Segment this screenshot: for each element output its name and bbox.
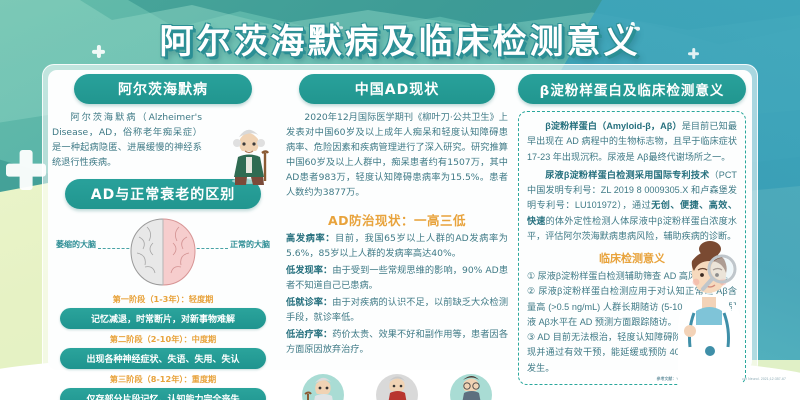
column-one: 阿尔茨海默病 阿尔茨海默病（Alzheimer's Disease，AD，俗称老… (52, 74, 274, 400)
amyloid-beta-paragraph-two: 尿液β淀粉样蛋白检测采用国际专利技术（PCT中国发明专利号：ZL 2019 8 … (527, 168, 737, 244)
stat-item: 低就诊率：由于对疾病的认识不足，以前缺乏大众检测手段，就诊率低。 (286, 296, 508, 326)
stat-term: 低就诊率： (286, 297, 332, 308)
stat-term: 低发现率： (286, 265, 332, 276)
stat-item: 低治疗率：药价太贵、效果不好和副作用等，患者因各方面原因放弃治疗。 (286, 328, 508, 358)
brain-label-atrophied: 萎缩的大脑 (56, 239, 96, 250)
china-ad-status-text: 2020年12月国际医学期刊《柳叶刀·公共卫生》上发表对中国60岁及以上成年人痴… (286, 111, 508, 200)
column-three: β淀粉样蛋白及临床检测意义 β淀粉样蛋白（Amyloid-β，Aβ）是目前已知最… (518, 74, 746, 385)
elderly-couple-crossroad-icon (368, 368, 426, 400)
amyloid-beta-term: β淀粉样蛋白（Amyloid-β，Aβ） (545, 121, 682, 131)
section-heading-alzheimer: 阿尔茨海默病 (74, 74, 252, 104)
stat-item: 高发病率：目前，我国65岁以上人群的AD发病率为5.6%，85岁以上人群的发病率… (286, 232, 508, 262)
subtitle-prevention-status: AD防治现状：一高三低 (286, 210, 508, 229)
elderly-man-scale-icon (442, 368, 500, 400)
female-doctor-with-magnifier-icon (660, 239, 756, 389)
stat-term: 高发病率： (286, 233, 335, 244)
stage-text: 记忆减退，时常断片，对新事物难解 (60, 308, 266, 329)
page-title: 阿尔茨海默病及临床检测意义 (0, 14, 800, 63)
section-heading-amyloid-beta: β淀粉样蛋白及临床检测意义 (518, 74, 746, 104)
brain-label-normal: 正常的大脑 (230, 239, 270, 250)
stat-term: 低治疗率： (286, 329, 332, 340)
elderly-illustrations-row (286, 364, 508, 400)
section-heading-china-ad-status: 中国AD现状 (299, 74, 495, 104)
stat-item: 低发现率：由于受到一些常规思维的影响，90% AD患者不知道自己已患病。 (286, 264, 508, 294)
column-two: 中国AD现状 2020年12月国际医学期刊《柳叶刀·公共卫生》上发表对中国60岁… (286, 74, 508, 400)
elderly-man-with-cane-icon (218, 113, 280, 185)
stage-label: 第一阶段（1-3年）：轻度期 (52, 293, 274, 305)
stage-label: 第三阶段（8-12年）：重度期 (52, 373, 274, 385)
patent-tech-term: 尿液β淀粉样蛋白检测采用国际专利技术 (545, 170, 709, 180)
alzheimer-definition-text: 阿尔茨海默病（Alzheimer's Disease，AD，俗称老年痴呆症）是一… (52, 111, 202, 171)
alzheimer-definition-block: 阿尔茨海默病（Alzheimer's Disease，AD，俗称老年痴呆症）是一… (52, 111, 274, 171)
stage-text: 出现各种神经症状、失语、失用、失认 (60, 348, 266, 369)
cross-icon (6, 150, 46, 190)
brain-comparison-diagram: 萎缩的大脑 正常的大脑 (52, 215, 274, 289)
patent-tech-tail: 的体外定性检测人体尿液中β淀粉样蛋白浓度水平，评估阿尔茨海默病患病风险，辅助疾病… (527, 216, 737, 241)
stage-label: 第二阶段（2-10年）：中度期 (52, 333, 274, 345)
elderly-man-cane-icon (294, 368, 352, 400)
stage-text: 仅存部分片段记忆，认知能力完全丧失 (60, 388, 266, 400)
brain-illustration (123, 215, 203, 289)
amyloid-beta-paragraph-one: β淀粉样蛋白（Amyloid-β，Aβ）是目前已知最早出现在 AD 病程中的生物… (527, 119, 737, 165)
stage-list: 第一阶段（1-3年）：轻度期 记忆减退，时常断片，对新事物难解 第二阶段（2-1… (52, 293, 274, 400)
